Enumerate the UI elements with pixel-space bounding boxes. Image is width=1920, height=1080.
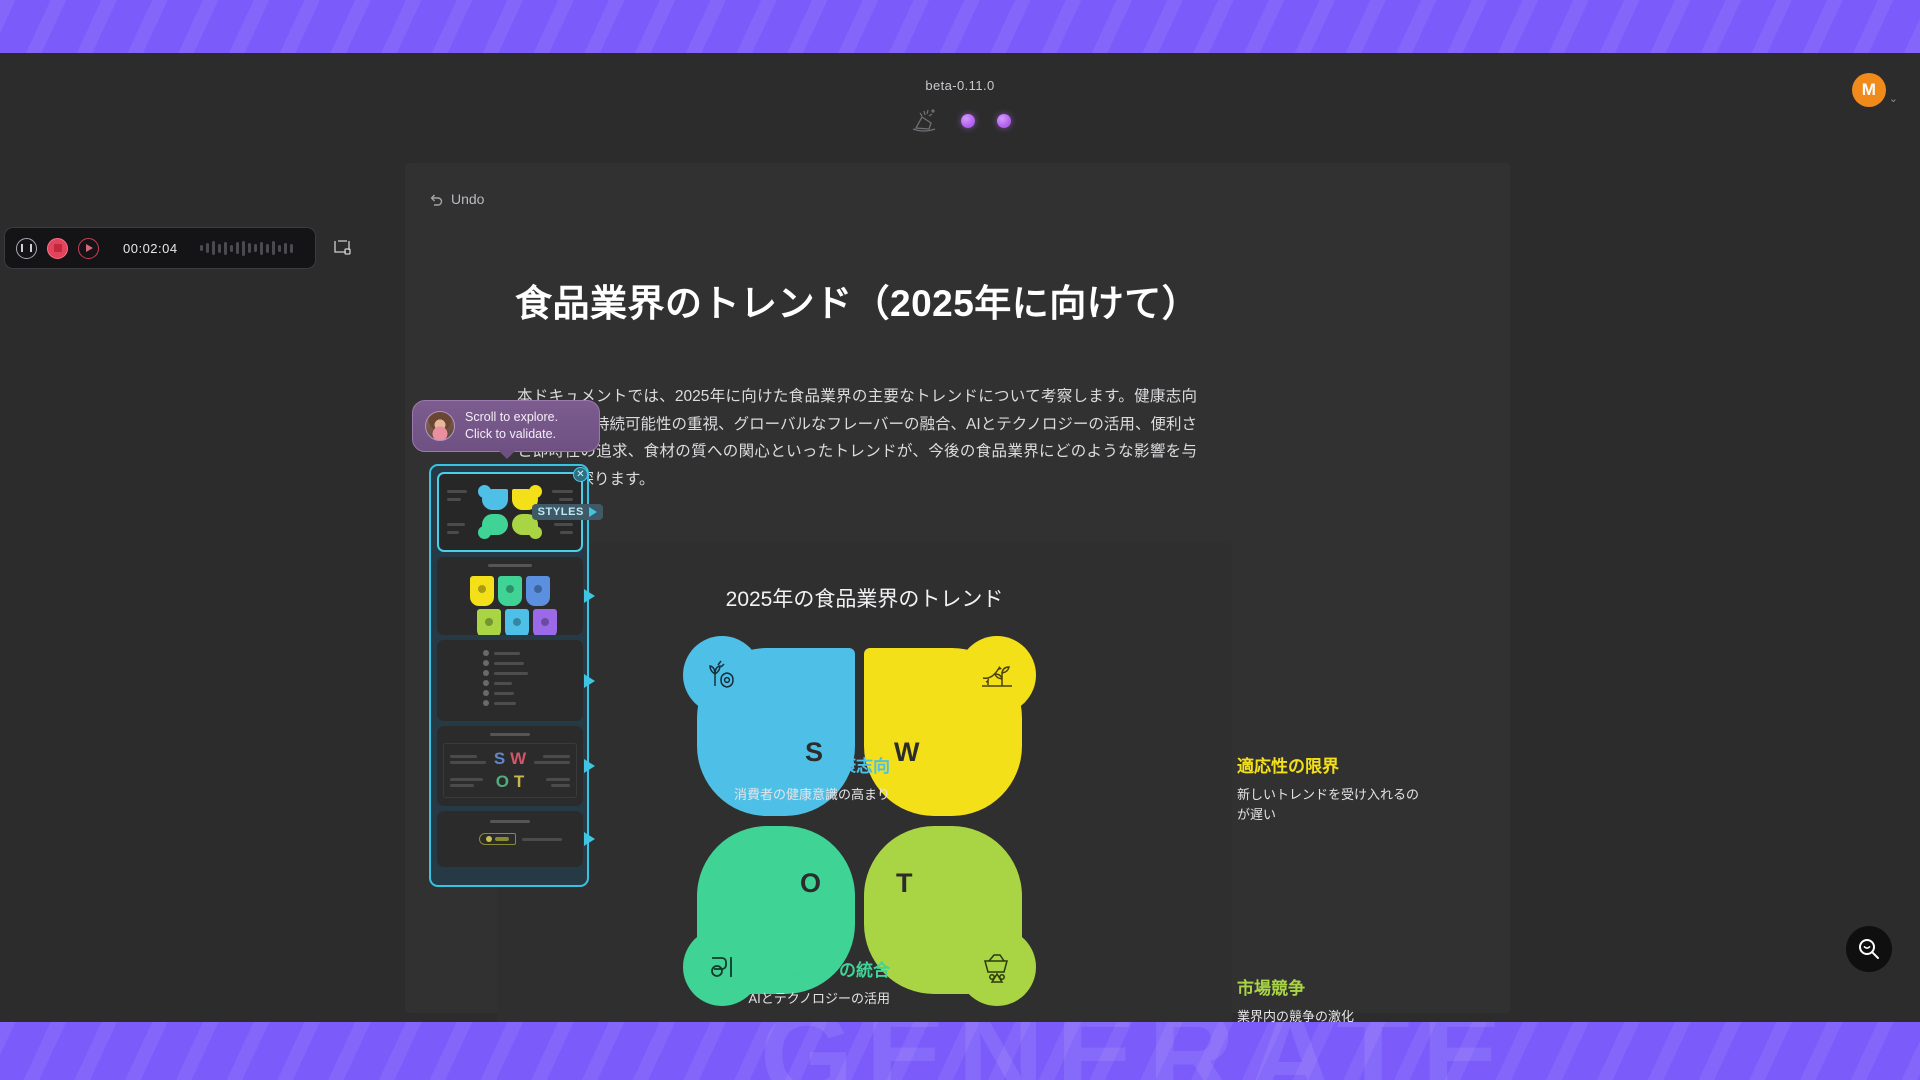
label-desc-w: 新しいトレンドを受け入れるのが遅い	[1237, 785, 1422, 825]
waveform-bar	[224, 242, 227, 255]
waveform-bar	[290, 244, 293, 253]
label-desc-s: 消費者の健康意識の高まり	[705, 785, 890, 805]
thumbnail-thumb-tag[interactable]	[437, 811, 583, 867]
play-slide-button[interactable]	[584, 759, 595, 773]
waveform-bar	[284, 243, 287, 254]
waveform-bar	[230, 245, 233, 252]
crop-region-icon[interactable]	[332, 239, 352, 257]
recording-timer: 00:02:04	[123, 241, 178, 256]
waveform-bar	[212, 241, 215, 255]
play-slide-button[interactable]	[584, 674, 595, 688]
waveform-bar	[278, 245, 281, 252]
assistant-avatar	[425, 411, 455, 441]
app-window: beta-0.11.0 M ⌄ 00:02:04	[0, 53, 1920, 1022]
thumbnail-preview: SWOT	[437, 726, 583, 806]
wheat-plant-icon	[683, 636, 761, 714]
petal-letter-t: T	[896, 868, 913, 899]
chevron-down-icon[interactable]: ⌄	[1889, 92, 1898, 105]
app-toolbar	[0, 107, 1920, 135]
top-brand-band	[0, 0, 1920, 53]
swot-label-opportunities: テクノロジーの統合 AIとテクノロジーの活用	[705, 960, 890, 1009]
styles-chip-label: STYLES	[538, 506, 584, 518]
thumbnail-thumb-bullets[interactable]	[437, 640, 583, 721]
recording-toolbar[interactable]: 00:02:04	[4, 227, 316, 269]
undo-button[interactable]: Undo	[429, 191, 484, 207]
status-dot-2[interactable]	[997, 114, 1011, 128]
shopping-basket-icon	[958, 928, 1036, 1006]
label-desc-o: AIとテクノロジーの活用	[705, 989, 890, 1009]
bottom-brand-band: GENERATE	[0, 1022, 1920, 1080]
document-paragraph: 本ドキュメントでは、2025年に向けた食品業界の主要なトレンドについて考察します…	[517, 383, 1197, 493]
pause-recording-button[interactable]	[16, 238, 37, 259]
waveform-bar	[242, 241, 245, 256]
hint-text: Scroll to explore. Click to validate.	[465, 409, 558, 444]
thumbnail-thumb-swot-styles[interactable]: ✕STYLES	[437, 472, 583, 552]
slide-thumbnail-rail[interactable]: ✕STYLESSWOT	[429, 464, 589, 887]
growth-sprout-icon	[958, 636, 1036, 714]
label-heading-s: 健康志向	[705, 756, 890, 779]
thumbnail-thumb-badges[interactable]	[437, 557, 583, 635]
swot-label-threats: 市場競争 業界内の競争の激化	[1237, 978, 1422, 1027]
waveform-bar	[266, 244, 269, 253]
magic-hat-icon[interactable]	[909, 107, 939, 135]
styles-chip[interactable]: STYLES	[532, 504, 603, 520]
swot-slide[interactable]: 2025年の食品業界のトレンド S	[497, 543, 1232, 1048]
hint-line-2: Click to validate.	[465, 427, 556, 441]
brand-watermark: GENERATE	[760, 1022, 1514, 1080]
play-slide-button[interactable]	[584, 589, 595, 603]
thumbnail-preview	[437, 811, 583, 867]
label-heading-t: 市場競争	[1237, 978, 1422, 1001]
petal-letter-o: O	[800, 868, 821, 899]
undo-label: Undo	[451, 191, 484, 207]
waveform-bar	[260, 242, 263, 255]
waveform-bar	[248, 243, 251, 253]
waveform-bar	[236, 242, 239, 254]
play-triangle-icon[interactable]	[589, 507, 597, 517]
thumbnail-preview	[437, 557, 583, 635]
app-version-label: beta-0.11.0	[0, 78, 1920, 93]
swot-label-weaknesses: 適応性の限界 新しいトレンドを受け入れるのが遅い	[1237, 756, 1422, 825]
mini-swot-preview	[482, 489, 538, 535]
undo-icon	[429, 192, 444, 207]
stop-recording-button[interactable]	[47, 238, 68, 259]
waveform-bar	[218, 244, 221, 253]
swot-label-strengths: 健康志向 消費者の健康意識の高まり	[705, 756, 890, 805]
close-icon[interactable]: ✕	[573, 467, 588, 482]
swot-diagram: S W	[697, 648, 1022, 988]
avatar[interactable]: M	[1852, 73, 1886, 107]
page-title: 食品業界のトレンド（2025年に向けて）	[515, 273, 1415, 327]
screen-root: beta-0.11.0 M ⌄ 00:02:04	[0, 0, 1920, 1080]
waveform-bar	[200, 245, 203, 251]
label-heading-w: 適応性の限界	[1237, 756, 1422, 779]
slide-title: 2025年の食品業界のトレンド	[497, 583, 1232, 613]
thumbnail-preview	[437, 640, 583, 721]
search-magnifier-button[interactable]	[1846, 926, 1892, 972]
waveform-bar	[206, 243, 209, 253]
waveform-bar	[272, 241, 275, 255]
hint-line-1: Scroll to explore.	[465, 410, 558, 424]
petal-letter-w: W	[894, 737, 919, 768]
search-magnifier-icon	[1856, 936, 1882, 962]
restart-recording-button[interactable]	[78, 238, 99, 259]
audio-waveform	[200, 241, 293, 256]
hint-callout: Scroll to explore. Click to validate.	[412, 400, 600, 452]
account-menu[interactable]: M ⌄	[1852, 73, 1898, 107]
status-dot-1[interactable]	[961, 114, 975, 128]
waveform-bar	[254, 244, 257, 252]
thumbnail-thumb-swot-letters[interactable]: SWOT	[437, 726, 583, 806]
play-slide-button[interactable]	[584, 832, 595, 846]
label-heading-o: テクノロジーの統合	[705, 960, 890, 983]
